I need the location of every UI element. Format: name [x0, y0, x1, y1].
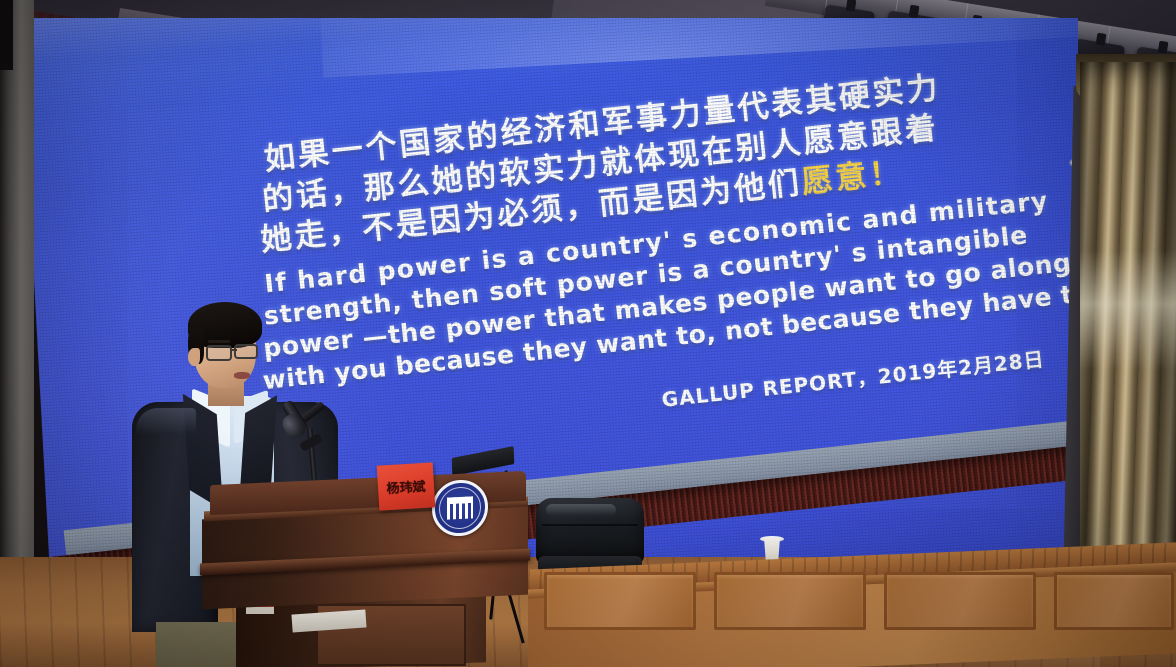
jacket-shoulder-highlight	[136, 408, 196, 434]
speaker-podium	[196, 478, 526, 667]
glasses-lens-left	[206, 345, 232, 361]
speaker-name-card-text: 杨玮斌	[386, 476, 426, 497]
table-panel	[714, 572, 866, 630]
ear	[188, 348, 200, 366]
side-wall-left-shadow	[0, 0, 13, 70]
glasses-bridge	[230, 349, 237, 351]
presentation-scene: 如果一个国家的经济和军事力量代表其硬实力 的话，那么她的软实力就体现在别人愿意跟…	[0, 0, 1176, 667]
table-panel	[884, 572, 1036, 630]
curtain-highlight	[1080, 250, 1176, 370]
eyebrow	[208, 340, 230, 343]
chinese-highlight: 愿意！	[800, 154, 905, 201]
head-table	[528, 556, 1176, 667]
table-panel	[544, 572, 696, 630]
slide-attribution: GALLUP REPORT，2019年2月28日	[660, 343, 1046, 413]
speaker-name-card: 杨玮斌	[377, 462, 436, 510]
chair-backrest	[536, 498, 644, 564]
table-panel	[1054, 572, 1174, 630]
glasses-lens-right	[234, 344, 258, 359]
mouth	[234, 372, 250, 379]
